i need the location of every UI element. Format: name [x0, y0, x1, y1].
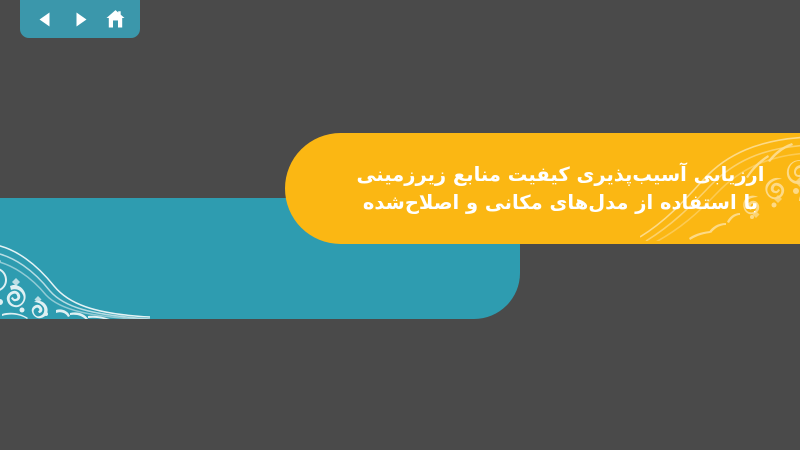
slide-canvas: ارزیابی آسیب‌پذیری کیفیت منابع زیرزمینی …: [0, 0, 800, 450]
home-button[interactable]: [102, 6, 128, 32]
title-line-2: با استفاده از مدل‌های مکانی و اصلاح‌شده: [333, 189, 788, 217]
arabesque-corner-ornament: [0, 214, 150, 319]
slide-title: ارزیابی آسیب‌پذیری کیفیت منابع زیرزمینی …: [285, 161, 800, 216]
title-line-1: ارزیابی آسیب‌پذیری کیفیت منابع زیرزمینی: [333, 161, 788, 189]
home-icon: [104, 8, 127, 31]
next-slide-button[interactable]: [67, 6, 93, 32]
title-banner-panel: ارزیابی آسیب‌پذیری کیفیت منابع زیرزمینی …: [285, 133, 800, 244]
triangle-right-icon: [71, 10, 90, 29]
previous-slide-button[interactable]: [32, 6, 58, 32]
navigation-bar: [20, 0, 140, 38]
triangle-left-icon: [36, 10, 55, 29]
